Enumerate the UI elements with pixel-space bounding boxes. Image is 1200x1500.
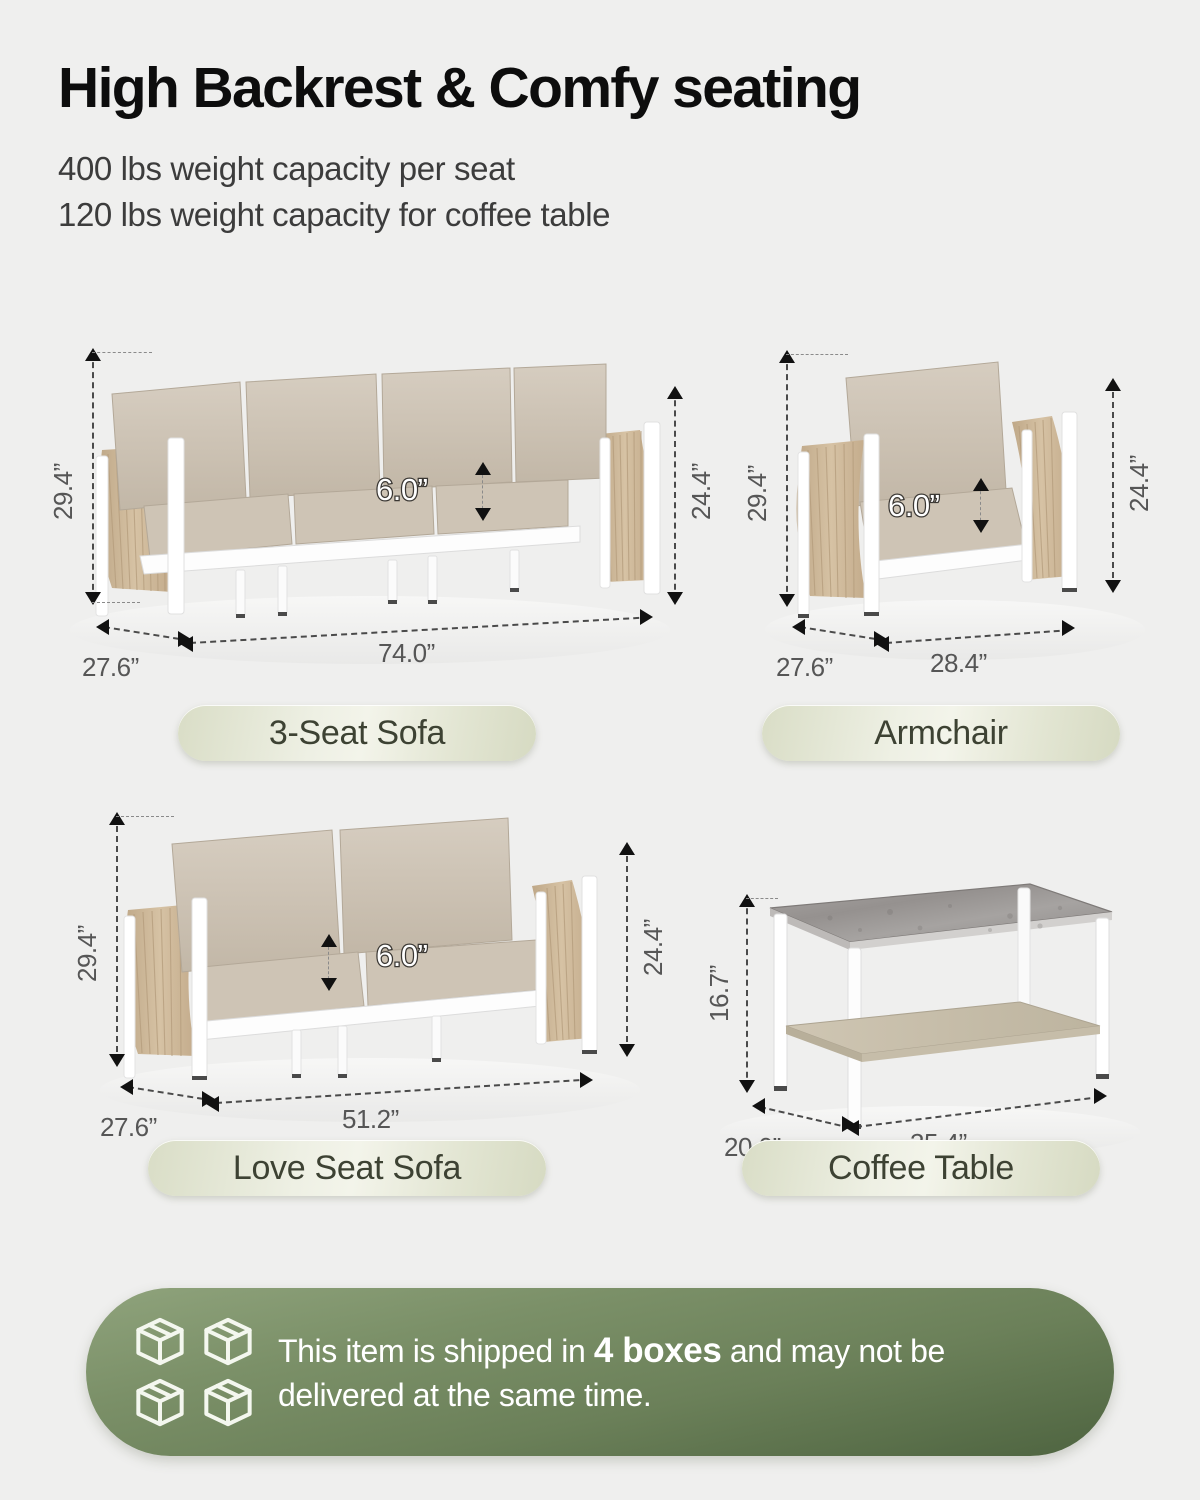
armchair-height-dimline bbox=[786, 354, 788, 602]
sofa-cushion-arrow-bottom bbox=[475, 508, 491, 521]
sofa-illustration bbox=[40, 330, 700, 750]
loveseat-width-arrow-right bbox=[580, 1072, 593, 1088]
sofa-height-ext-bottom bbox=[92, 602, 140, 603]
armchair-illustration bbox=[740, 330, 1170, 750]
coffeetable-height-arrow-top bbox=[739, 894, 755, 907]
armchair-arm-label: 24.4” bbox=[1124, 455, 1155, 512]
armchair-cushion-arrow-bottom bbox=[973, 520, 989, 533]
loveseat-height-arrow-top bbox=[109, 812, 125, 825]
package-box-icon bbox=[128, 1374, 192, 1431]
pill-text-armchair: Armchair bbox=[874, 714, 1008, 753]
sofa-height-arrow-bottom bbox=[85, 592, 101, 605]
product-armchair: 29.4” 27.6” 28.4” 24.4” 6.0” bbox=[740, 330, 1170, 750]
armchair-cushion-label: 6.0” bbox=[888, 488, 939, 524]
sofa-cushion-label: 6.0” bbox=[376, 472, 427, 508]
coffeetable-height-arrow-bottom bbox=[739, 1080, 755, 1093]
loveseat-arm-label: 24.4” bbox=[638, 919, 669, 976]
sofa-width-arrow-left bbox=[180, 636, 193, 652]
armchair-width-label: 28.4” bbox=[930, 648, 987, 679]
armchair-arm-arrow-bottom bbox=[1105, 580, 1121, 593]
loveseat-arm-arrow-top bbox=[619, 842, 635, 855]
loveseat-depth-label: 27.6” bbox=[100, 1112, 157, 1143]
sofa-arm-dimline bbox=[674, 390, 676, 600]
shipping-box-icons bbox=[128, 1313, 260, 1431]
armchair-width-arrow-left bbox=[876, 636, 889, 652]
sofa-width-label: 74.0” bbox=[378, 638, 435, 669]
armchair-cushion-arrow-top bbox=[973, 478, 989, 491]
sofa-width-arrow-right bbox=[640, 609, 653, 625]
product-label-loveseat[interactable]: Love Seat Sofa bbox=[148, 1140, 546, 1196]
sofa-height-ext-top bbox=[92, 352, 152, 353]
armchair-arm-arrow-top bbox=[1105, 378, 1121, 391]
sofa-arm-label: 24.4” bbox=[686, 463, 717, 520]
page-title: High Backrest & Comfy seating bbox=[58, 58, 1200, 120]
armchair-depth-arrow-left bbox=[792, 619, 805, 635]
loveseat-width-label: 51.2” bbox=[342, 1104, 399, 1135]
loveseat-width-arrow-left bbox=[206, 1096, 219, 1112]
shipping-text-before: This item is shipped in bbox=[278, 1333, 594, 1369]
subtitle-block: 400 lbs weight capacity per seat 120 lbs… bbox=[58, 146, 1200, 240]
armchair-depth-label: 27.6” bbox=[776, 652, 833, 683]
loveseat-arm-dimline bbox=[626, 846, 628, 1052]
sofa-height-arrow-top bbox=[85, 348, 101, 361]
product-label-sofa[interactable]: 3-Seat Sofa bbox=[178, 705, 536, 761]
pill-text-coffeetable: Coffee Table bbox=[828, 1149, 1014, 1188]
sofa-depth-arrow-left bbox=[96, 619, 109, 635]
product-sofa: 29.4” 27.6” 74.0” 24.4” 6.0” bbox=[40, 330, 700, 750]
product-grid: 29.4” 27.6” 74.0” 24.4” 6.0” bbox=[0, 320, 1200, 1260]
loveseat-height-label: 29.4” bbox=[72, 925, 103, 982]
sofa-arm-arrow-bottom bbox=[667, 592, 683, 605]
package-box-icon bbox=[128, 1313, 192, 1370]
subtitle-line-2: 120 lbs weight capacity for coffee table bbox=[58, 192, 1200, 239]
package-box-icon bbox=[196, 1313, 260, 1370]
loveseat-arm-arrow-bottom bbox=[619, 1044, 635, 1057]
armchair-height-label: 29.4” bbox=[742, 465, 773, 522]
loveseat-cushion-label: 6.0” bbox=[376, 938, 427, 974]
armchair-width-arrow-right bbox=[1062, 620, 1075, 636]
product-label-coffeetable[interactable]: Coffee Table bbox=[742, 1140, 1100, 1196]
sofa-cushion-arrow-top bbox=[475, 462, 491, 475]
pill-text-loveseat: Love Seat Sofa bbox=[233, 1149, 461, 1188]
loveseat-cushion-arrow-top bbox=[321, 934, 337, 947]
sofa-arm-arrow-top bbox=[667, 386, 683, 399]
subtitle-line-1: 400 lbs weight capacity per seat bbox=[58, 146, 1200, 193]
sofa-height-dimline bbox=[92, 352, 94, 600]
armchair-height-ext-top bbox=[786, 354, 848, 355]
shipping-banner: This item is shipped in 4 boxes and may … bbox=[86, 1288, 1114, 1456]
shipping-banner-text: This item is shipped in 4 boxes and may … bbox=[278, 1327, 1078, 1417]
armchair-height-arrow-top bbox=[779, 350, 795, 363]
coffeetable-height-ext-top bbox=[746, 898, 778, 899]
product-label-armchair[interactable]: Armchair bbox=[762, 705, 1120, 761]
loveseat-depth-arrow-left bbox=[120, 1079, 133, 1095]
armchair-height-arrow-bottom bbox=[779, 594, 795, 607]
loveseat-height-dimline bbox=[116, 816, 118, 1062]
coffeetable-height-dimline bbox=[746, 898, 748, 1088]
sofa-depth-label: 27.6” bbox=[82, 652, 139, 683]
coffeetable-width-arrow-left bbox=[846, 1120, 859, 1136]
header: High Backrest & Comfy seating 400 lbs we… bbox=[0, 0, 1200, 239]
package-box-icon bbox=[196, 1374, 260, 1431]
loveseat-height-ext-top bbox=[116, 816, 174, 817]
pill-text-sofa: 3-Seat Sofa bbox=[269, 714, 445, 753]
loveseat-height-arrow-bottom bbox=[109, 1054, 125, 1067]
coffeetable-depth-arrow-left bbox=[752, 1098, 765, 1114]
coffeetable-height-label: 16.7” bbox=[704, 965, 735, 1022]
shipping-box-count: 4 boxes bbox=[594, 1331, 722, 1370]
loveseat-cushion-arrow-bottom bbox=[321, 978, 337, 991]
coffeetable-width-arrow-right bbox=[1094, 1088, 1107, 1104]
sofa-height-label: 29.4” bbox=[48, 463, 79, 520]
armchair-arm-dimline bbox=[1112, 382, 1114, 588]
